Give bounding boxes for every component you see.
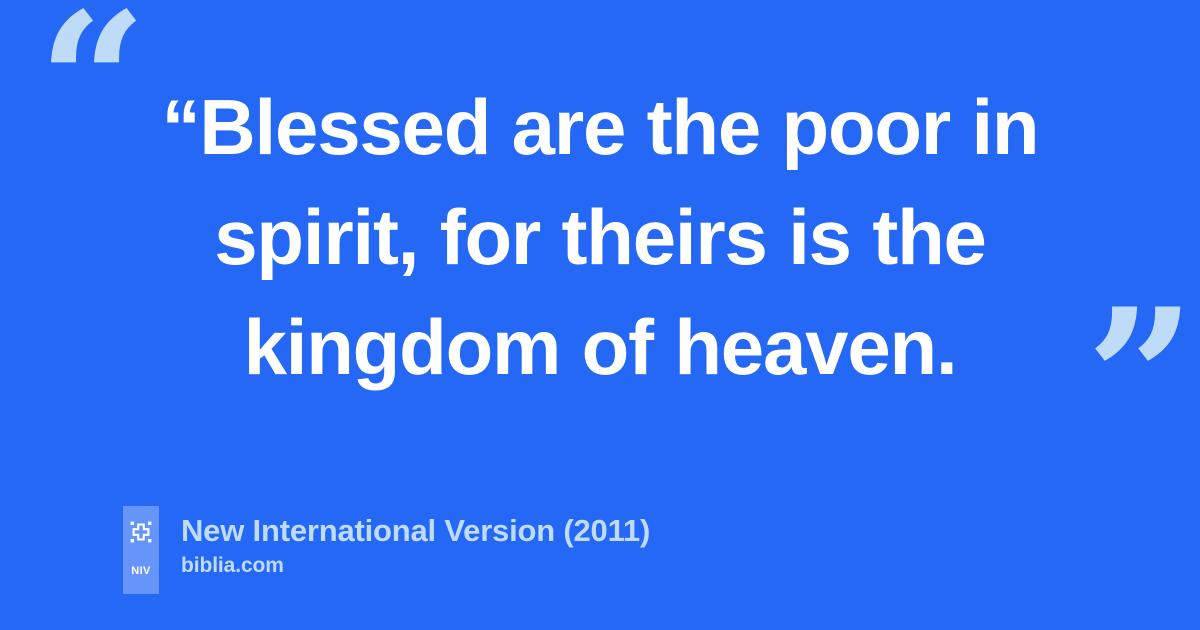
bible-version-badge: NIV xyxy=(123,506,159,594)
attribution: NIV New International Version (2011) bib… xyxy=(123,506,650,594)
quote-block: “Blessed are the poor in spirit, for the… xyxy=(60,72,1140,402)
verse-image-card: “ ” “Blessed are the poor in spirit, for… xyxy=(0,0,1200,630)
bible-version-name: New International Version (2011) xyxy=(181,512,650,550)
quote-text: “Blessed are the poor in spirit, for the… xyxy=(60,72,1140,402)
attribution-text: New International Version (2011) biblia.… xyxy=(181,506,650,580)
site-name[interactable]: biblia.com xyxy=(181,552,650,580)
crop-marquee-plus-icon xyxy=(129,520,153,544)
bible-version-abbreviation: NIV xyxy=(131,566,151,577)
